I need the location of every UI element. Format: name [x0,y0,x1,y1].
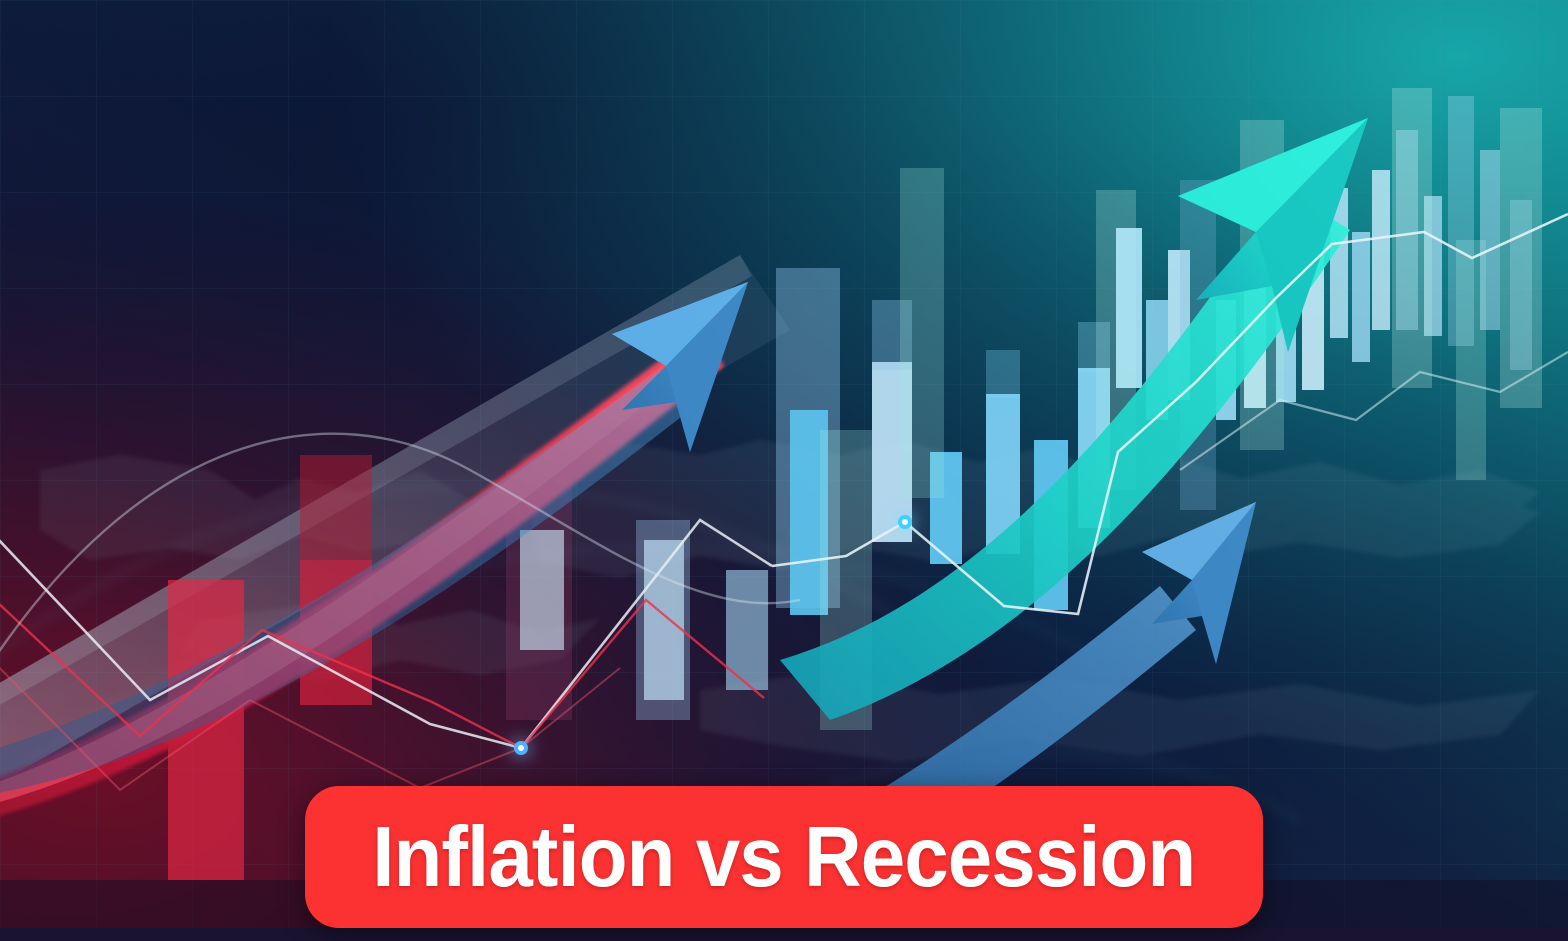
glow-dot-left [514,741,528,755]
illustration-canvas: Inflation vs Recession [0,0,1568,941]
glow-dot-mid [898,515,912,529]
page-title: Inflation vs Recession [373,815,1196,900]
title-banner: Inflation vs Recession [305,786,1263,928]
bottom-strip [0,928,1568,941]
